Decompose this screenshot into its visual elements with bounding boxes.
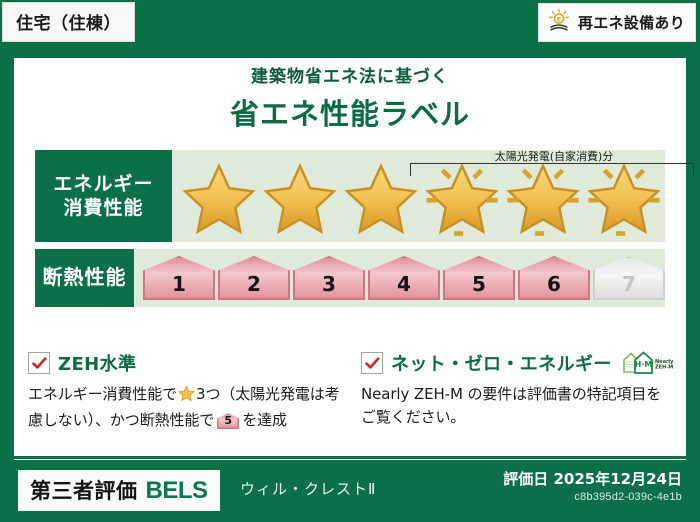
solar-portion-bracket bbox=[410, 163, 694, 176]
svg-text:H·M: H·M bbox=[634, 360, 652, 369]
bels-jp-label: 第三者評価 bbox=[30, 475, 138, 505]
energy-stars-panel: 太陽光発電(自家消費)分 bbox=[172, 150, 665, 242]
insulation-label-text: 断熱性能 bbox=[43, 265, 127, 291]
bels-certification-mark: 第三者評価 BELS bbox=[18, 470, 220, 511]
criteria-net-zero-energy: ネット・ゼロ・エネルギー H·M Nearly ZEH-M bbox=[361, 350, 676, 433]
sun-icon: E bbox=[547, 8, 571, 37]
energy-label-line1: エネルギー bbox=[53, 172, 153, 196]
performance-rows: エネルギー 消費性能 太陽光発電(自家消費)分 断熱性能 1234567 bbox=[35, 150, 665, 314]
bels-energy-label: 住宅（住棟） E 再エネ設備あり 建築物省エネ法に基づく 省エネ性能ラベル bbox=[0, 0, 700, 522]
building-name: ウィル・クレストⅡ bbox=[240, 478, 376, 499]
insulation-level-2: 2 bbox=[218, 256, 290, 300]
insulation-level-number: 1 bbox=[172, 272, 186, 300]
insulation-level-5: 5 bbox=[443, 256, 515, 300]
zeh-standard-heading: ZEH水準 bbox=[28, 350, 343, 376]
renewable-equipment-badge: E 再エネ設備あり bbox=[538, 3, 696, 42]
check-icon bbox=[365, 357, 380, 370]
insulation-level-6: 6 bbox=[518, 256, 590, 300]
label-title: 建築物省エネ法に基づく 省エネ性能ラベル bbox=[0, 62, 700, 133]
star-1 bbox=[180, 162, 260, 238]
insulation-level-7: 7 bbox=[593, 256, 665, 300]
insulation-performance-row: 断熱性能 1234567 bbox=[35, 249, 665, 307]
footer-divider bbox=[14, 459, 686, 460]
bels-en-label: BELS bbox=[146, 477, 208, 505]
energy-performance-label: エネルギー 消費性能 bbox=[35, 150, 172, 242]
criteria-zeh-standard: ZEH水準 エネルギー消費性能で3つ（太陽光発電は考慮しない）、かつ断熱性能で5… bbox=[28, 350, 343, 433]
net-zero-title: ネット・ゼロ・エネルギー bbox=[391, 350, 612, 376]
energy-performance-row: エネルギー 消費性能 太陽光発電(自家消費)分 bbox=[35, 150, 665, 242]
insulation-levels-panel: 1234567 bbox=[134, 249, 665, 307]
zeh-standard-checkbox[interactable] bbox=[28, 352, 50, 374]
insulation-level-1: 1 bbox=[143, 256, 215, 300]
insulation-level-number: 6 bbox=[547, 272, 561, 300]
insulation-level-scale: 1234567 bbox=[134, 256, 665, 300]
insulation-level-4: 4 bbox=[368, 256, 440, 300]
zeh-standard-description: エネルギー消費性能で3つ（太陽光発電は考慮しない）、かつ断熱性能で5を達成 bbox=[28, 383, 343, 433]
insulation-level-number: 7 bbox=[622, 272, 636, 300]
inline-house-number: 5 bbox=[217, 413, 239, 429]
net-zero-heading: ネット・ゼロ・エネルギー H·M Nearly ZEH-M bbox=[361, 350, 676, 376]
check-icon bbox=[32, 357, 47, 370]
svg-text:E: E bbox=[557, 16, 561, 23]
star-2 bbox=[261, 162, 341, 238]
zeh-desc-part3: を達成 bbox=[242, 411, 287, 429]
evaluation-id: c8b395d2-039c-4e1b bbox=[503, 491, 682, 503]
renewable-badge-label: 再エネ設備あり bbox=[578, 12, 685, 33]
insulation-level-number: 5 bbox=[472, 272, 486, 300]
solar-portion-note: 太陽光発電(自家消費)分 bbox=[404, 148, 700, 164]
net-zero-description: Nearly ZEH-M の要件は評価書の特記項目をご覧ください。 bbox=[361, 383, 676, 430]
insulation-level-number: 2 bbox=[247, 272, 261, 300]
svg-text:ZEH-M: ZEH-M bbox=[655, 365, 673, 371]
title-subtitle: 建築物省エネ法に基づく bbox=[0, 62, 700, 87]
insulation-level-3: 3 bbox=[293, 256, 365, 300]
building-type-tag: 住宅（住棟） bbox=[2, 2, 135, 42]
evaluation-date: 評価日 2025年12月24日 bbox=[503, 468, 682, 489]
zeh-standard-title: ZEH水準 bbox=[58, 350, 136, 376]
net-zero-checkbox[interactable] bbox=[361, 352, 383, 374]
zeh-desc-part1: エネルギー消費性能で bbox=[28, 385, 177, 403]
insulation-level-number: 4 bbox=[397, 272, 411, 300]
label-footer: 第三者評価 BELS ウィル・クレストⅡ 評価日 2025年12月24日 c8b… bbox=[0, 460, 700, 522]
inline-star-icon bbox=[178, 385, 195, 409]
inline-house-icon: 5 bbox=[217, 413, 239, 429]
insulation-performance-label: 断熱性能 bbox=[35, 249, 134, 307]
energy-label-line2: 消費性能 bbox=[63, 196, 143, 220]
criteria-section: ZEH水準 エネルギー消費性能で3つ（太陽光発電は考慮しない）、かつ断熱性能で5… bbox=[28, 350, 676, 433]
evaluation-info: 評価日 2025年12月24日 c8b395d2-039c-4e1b bbox=[503, 468, 682, 503]
zeh-m-logo: H·M Nearly ZEH-M bbox=[622, 350, 676, 376]
insulation-level-number: 3 bbox=[322, 272, 336, 300]
title-main: 省エネ性能ラベル bbox=[0, 91, 700, 133]
